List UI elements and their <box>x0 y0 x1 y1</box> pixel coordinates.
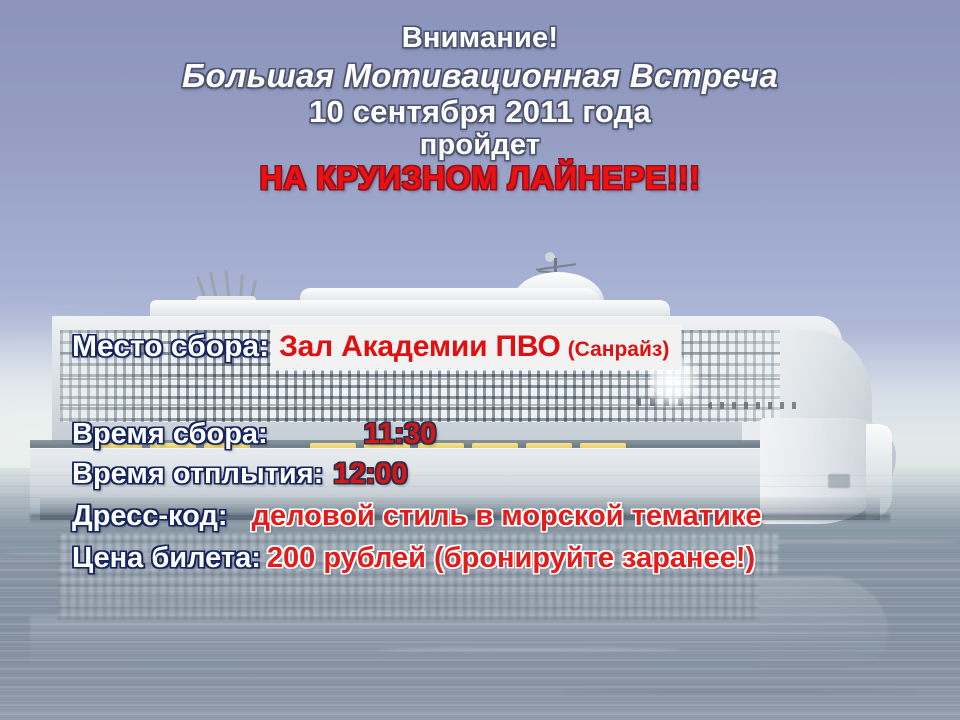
place-label: Место сбора: <box>72 330 269 364</box>
detail-row-meet-time: Время сбора: 11:30 <box>72 418 436 451</box>
meet-time-label: Время сбора: <box>72 418 268 451</box>
meet-time-value: 11:30 <box>364 418 437 451</box>
dress-code-value: деловой стиль в морской тематике <box>252 500 762 533</box>
detail-row-price: Цена билета: 200 рублей (бронируйте зара… <box>72 542 755 575</box>
place-value-highlight: Зал Академии ПВО (Санрайз) <box>271 326 681 370</box>
departure-time-value: 12:00 <box>333 458 407 491</box>
poster-slide: Внимание! Большая Мотивационная Встреча … <box>0 0 960 720</box>
price-value: 200 рублей (бронируйте заранее!) <box>267 542 755 575</box>
departure-time-label: Время отплытия: <box>72 458 323 491</box>
detail-row-departure-time: Время отплытия: 12:00 <box>72 458 408 491</box>
details-block: Место сбора: Зал Академии ПВО (Санрайз) … <box>0 0 960 720</box>
place-value-note: (Санрайз) <box>568 338 670 362</box>
detail-row-place: Место сбора: Зал Академии ПВО (Санрайз) <box>72 326 681 370</box>
price-label: Цена билета: <box>72 542 261 575</box>
dress-code-label: Дресс-код: <box>72 500 228 533</box>
place-value: Зал Академии ПВО <box>279 330 561 364</box>
detail-row-dress-code: Дресс-код: деловой стиль в морской темат… <box>72 500 761 533</box>
